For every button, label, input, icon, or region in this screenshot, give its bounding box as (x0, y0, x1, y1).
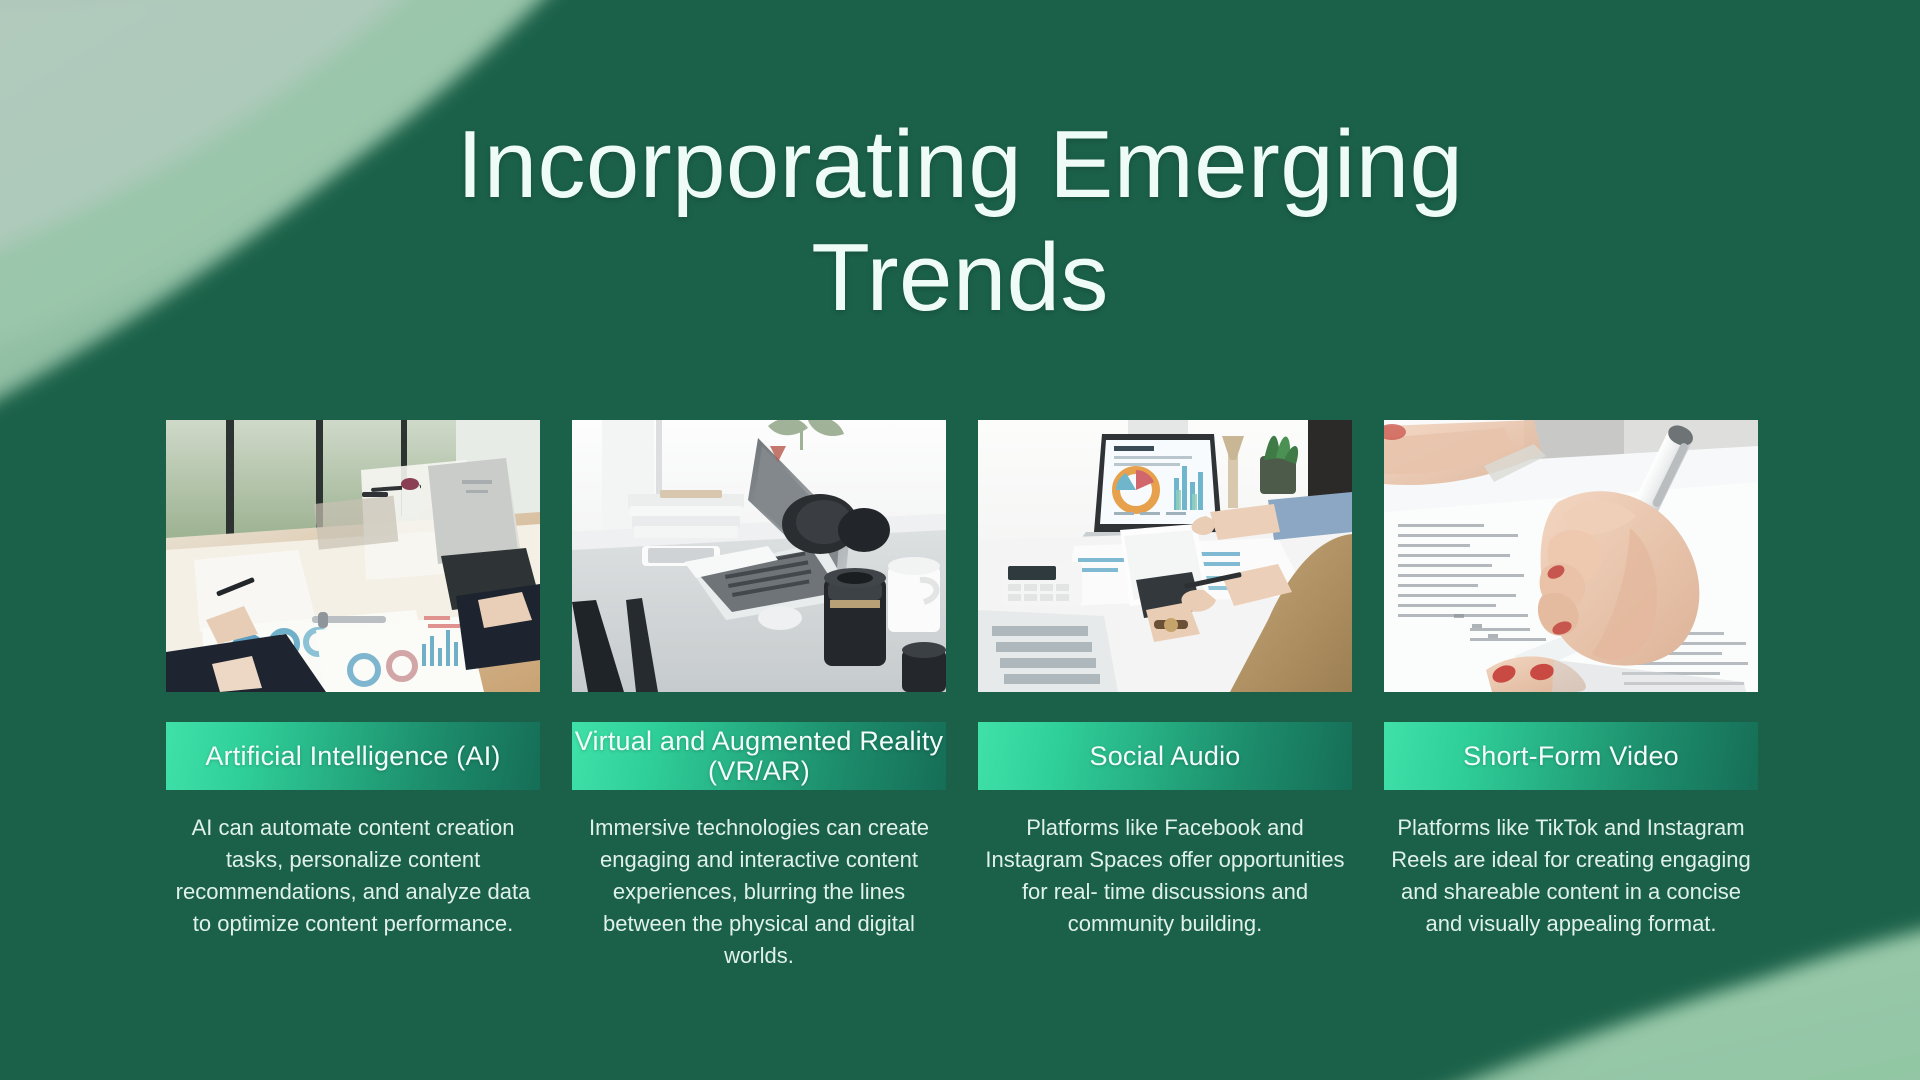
trend-card-banner[interactable]: Short-Form Video (1384, 722, 1758, 790)
trend-card[interactable]: Artificial Intelligence (AI) AI can auto… (166, 420, 540, 971)
trend-card-description: Platforms like TikTok and Instagram Reel… (1384, 812, 1758, 940)
slide-canvas: Incorporating Emerging Trends (0, 0, 1920, 1080)
trend-card-label: Artificial Intelligence (AI) (205, 741, 500, 771)
trend-card-description: Platforms like Facebook and Instagram Sp… (978, 812, 1352, 940)
trend-card-banner[interactable]: Virtual and Augmented Reality (VR/AR) (572, 722, 946, 790)
trend-card-description: Immersive technologies can create engagi… (572, 812, 946, 971)
business-team-reviewing-charts-photo (166, 420, 540, 692)
trend-card[interactable]: Short-Form Video Platforms like TikTok a… (1384, 420, 1758, 971)
trend-card-label: Virtual and Augmented Reality (VR/AR) (566, 726, 952, 786)
trend-card-label: Short-Form Video (1463, 741, 1679, 771)
trend-card[interactable]: Virtual and Augmented Reality (VR/AR) Im… (572, 420, 946, 971)
trend-card-description: AI can automate content creation tasks, … (166, 812, 540, 940)
trend-card-banner[interactable]: Artificial Intelligence (AI) (166, 722, 540, 790)
page-title: Incorporating Emerging Trends (300, 108, 1620, 335)
trend-card-label: Social Audio (1089, 741, 1240, 771)
trend-card-grid: Artificial Intelligence (AI) AI can auto… (166, 420, 1766, 971)
minimal-white-desk-laptop-photo (572, 420, 946, 692)
colleagues-tablet-dashboard-photo (978, 420, 1352, 692)
trend-card-banner[interactable]: Social Audio (978, 722, 1352, 790)
trend-card[interactable]: Social Audio Platforms like Facebook and… (978, 420, 1352, 971)
hand-writing-with-pen-photo (1384, 420, 1758, 692)
